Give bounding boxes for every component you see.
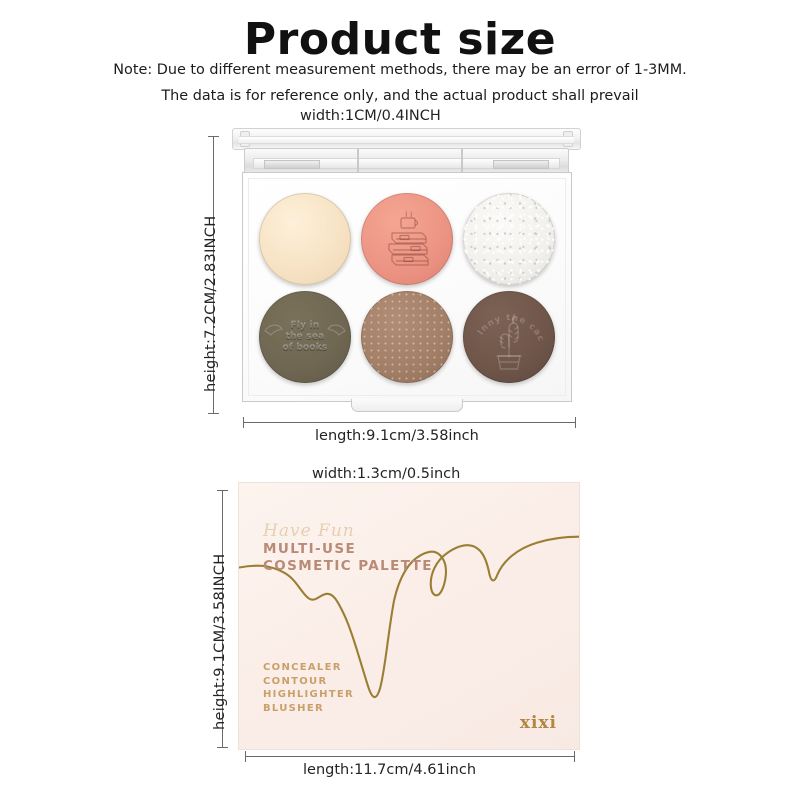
pan-grid: Fly in the sea of books (259, 193, 555, 379)
box-subtitle-line1: MULTI-USE (263, 541, 433, 558)
hinge-bar (253, 158, 560, 169)
pan-cell-top-center (361, 193, 453, 285)
top-width-label: width:1CM/0.4INCH (300, 108, 441, 124)
product-size-infographic: Product size Note: Due to different meas… (0, 0, 800, 800)
palette-box: Have Fun MULTI-USE COSMETIC PALETTE CONC… (238, 482, 580, 750)
pan-cell-bottom-center (361, 291, 453, 383)
bottom-height-label: height:9.1CM/3.58INCH (212, 554, 228, 730)
lid-corner-left (240, 131, 250, 147)
bottom-width-label: width:1.3cm/0.5inch (312, 466, 460, 482)
palette-tray: Fly in the sea of books (242, 172, 572, 402)
fly-in-the-sea-of-books-emboss: Fly in the sea of books (259, 291, 351, 383)
dotted-texture (361, 291, 453, 383)
lid-corner-right (563, 131, 573, 147)
measurement-note-line2: The data is for reference only, and the … (0, 88, 800, 104)
hinge-segment-right (493, 160, 549, 169)
palette-lid-flap (232, 128, 581, 150)
top-height-label: height:7.2CM/2.83INCH (203, 216, 219, 392)
product-list-item: CONTOUR (263, 675, 354, 689)
shimmer-texture (463, 193, 555, 285)
top-length-rule (243, 422, 576, 423)
cocoa-eyeshadow-pan: Inny the cactus (463, 291, 555, 383)
olive-eyeshadow-pan: Fly in the sea of books (259, 291, 351, 383)
hinge-segment-left (264, 160, 320, 169)
box-subtitle-line2: COSMETIC PALETTE (263, 558, 433, 575)
top-length-label: length:9.1cm/3.58inch (315, 428, 479, 444)
concealer-pan (259, 193, 351, 285)
pan-cell-bottom-left: Fly in the sea of books (259, 291, 351, 383)
brand-logo: xixi (520, 713, 557, 733)
pan-cell-top-right (463, 193, 555, 285)
closed-box-photo: Have Fun MULTI-USE COSMETIC PALETTE CONC… (238, 482, 580, 750)
measurement-note-line1: Note: Due to different measurement metho… (0, 62, 800, 78)
product-list-item: CONCEALER (263, 661, 354, 675)
contour-pan (361, 291, 453, 383)
pan-cell-top-left (259, 193, 351, 285)
pan-emboss-text: Fly in the sea of books (283, 321, 328, 354)
box-subtitle: MULTI-USE COSMETIC PALETTE (263, 541, 433, 575)
blusher-pan (361, 193, 453, 285)
svg-text:Inny the cactus: Inny the cactus (467, 295, 546, 344)
books-and-mug-icon (361, 193, 453, 285)
potted-cactus-icon: Inny the cactus (463, 291, 555, 383)
page-title: Product size (0, 14, 800, 65)
box-product-list: CONCEALER CONTOUR HIGHLIGHTER BLUSHER (263, 661, 354, 715)
bottom-length-rule (245, 756, 575, 757)
product-list-item: BLUSHER (263, 702, 354, 716)
palette-clasp (351, 399, 463, 412)
open-palette-photo: Fly in the sea of books (228, 128, 585, 416)
pan-cell-bottom-right: Inny the cactus (463, 291, 555, 383)
box-script-text: Have Fun (263, 521, 355, 541)
highlighter-pan (463, 193, 555, 285)
bottom-length-label: length:11.7cm/4.61inch (303, 762, 476, 778)
product-list-item: HIGHLIGHTER (263, 688, 354, 702)
